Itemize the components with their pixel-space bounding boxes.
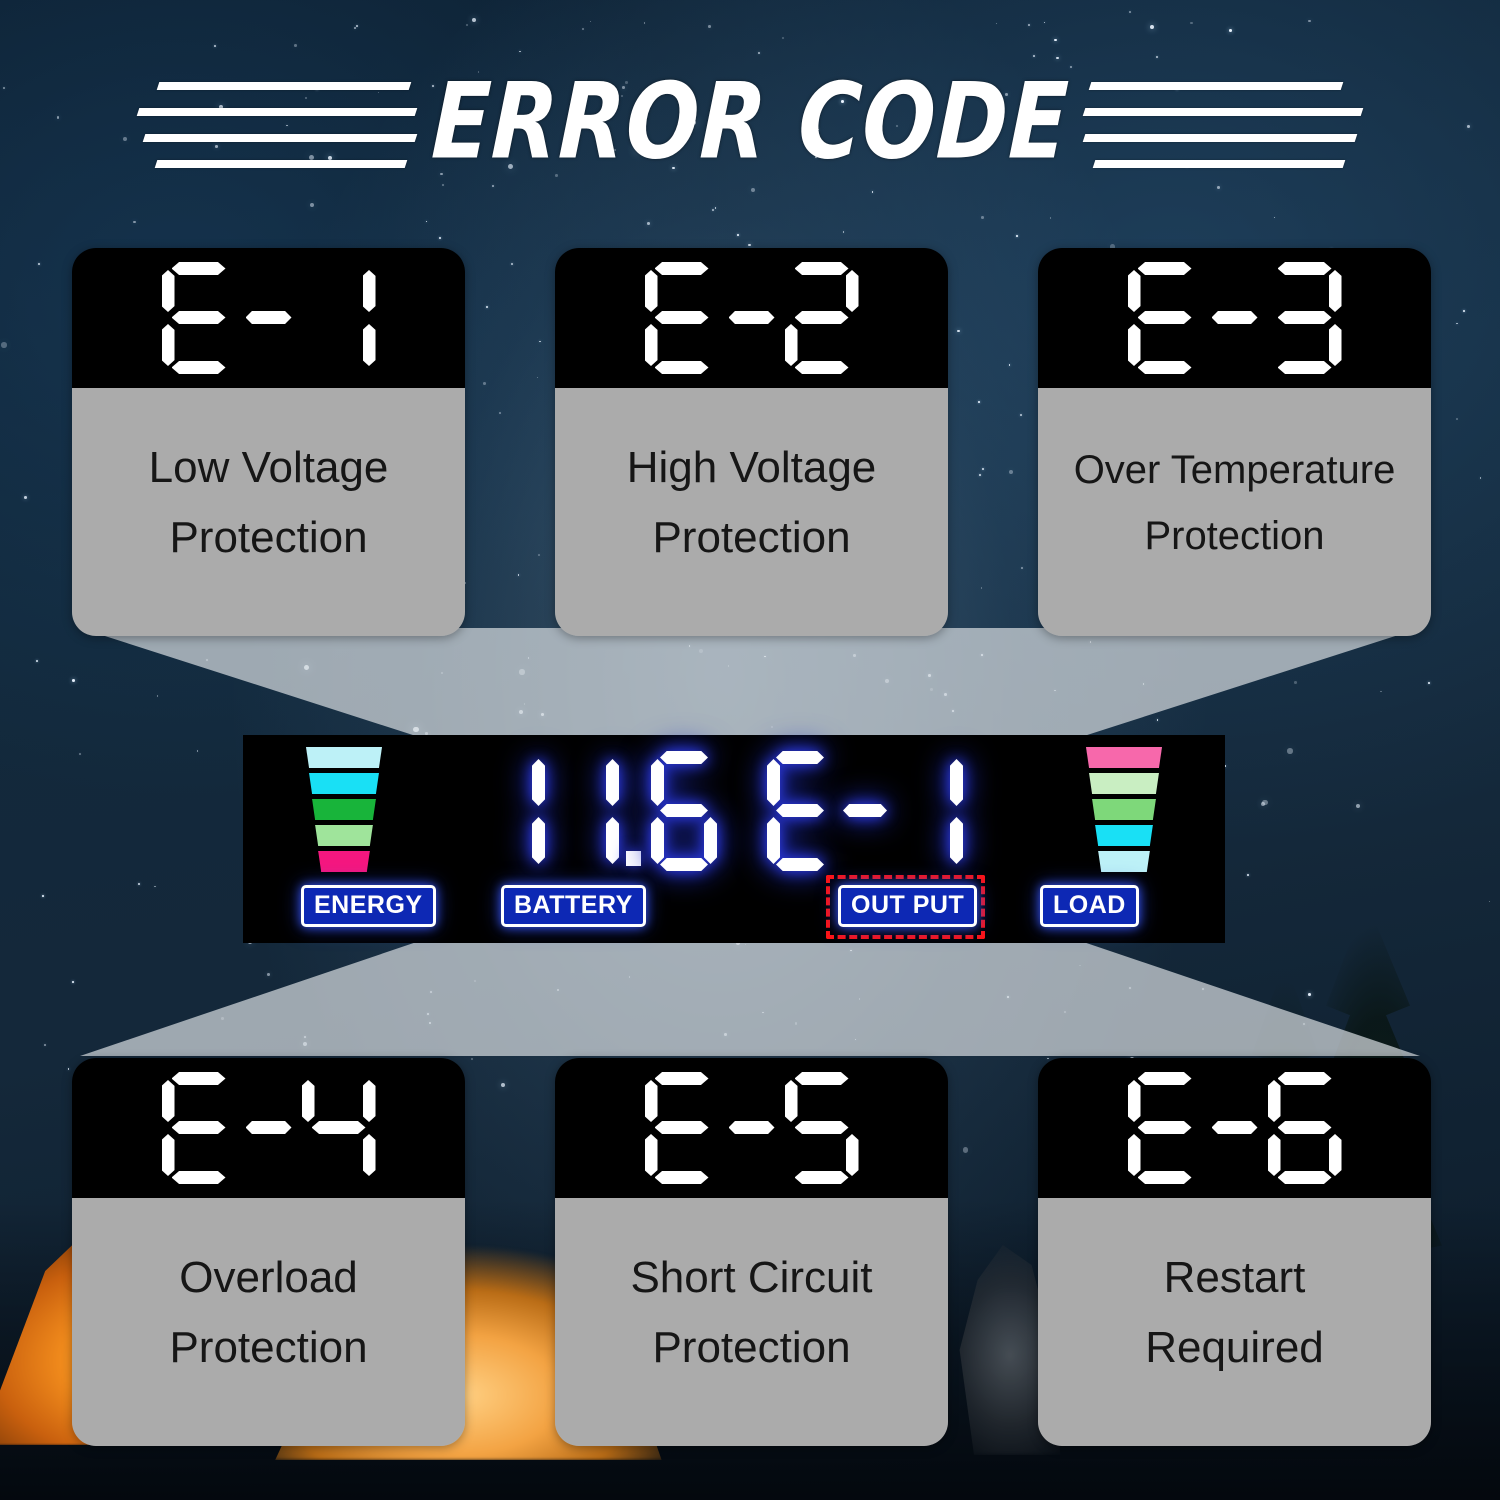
error-description-line1: Short Circuit xyxy=(630,1255,872,1301)
error-description-line2: Required xyxy=(1145,1325,1324,1371)
error-code-display-e-5 xyxy=(555,1058,948,1198)
segment-glyph-hyphen xyxy=(842,751,888,871)
label-output: OUT PUT xyxy=(838,885,977,927)
energy-bar-segment-3 xyxy=(306,799,382,820)
segment-glyph-hyphen xyxy=(1211,1072,1259,1184)
lcd-display-panel: ENERGY BATTERY OUT PUT LOAD xyxy=(243,735,1225,943)
segment-glyph-E xyxy=(1128,1072,1202,1184)
error-code-card-e-6[interactable]: RestartRequired xyxy=(1038,1058,1431,1446)
segment-glyph-1 xyxy=(897,751,963,871)
load-bar-segment-3 xyxy=(1086,799,1162,820)
segment-glyph-hyphen xyxy=(245,262,293,374)
error-description-line1: High Voltage xyxy=(627,445,877,491)
error-code-description: High VoltageProtection xyxy=(555,388,948,636)
segment-glyph-2 xyxy=(785,262,859,374)
error-code-description: OverloadProtection xyxy=(72,1198,465,1446)
segment-glyph-hyphen xyxy=(245,1072,293,1184)
error-code-description: RestartRequired xyxy=(1038,1198,1431,1446)
segment-glyph-E xyxy=(162,1072,236,1184)
error-code-display-e-3 xyxy=(1038,248,1431,388)
segment-glyph-6 xyxy=(1268,1072,1342,1184)
page-title: ERROR CODE xyxy=(413,61,1087,183)
label-battery: BATTERY xyxy=(501,885,646,927)
error-description-line1: Low Voltage xyxy=(149,445,389,491)
segment-glyph-hyphen xyxy=(1211,262,1259,374)
segment-glyph-hyphen xyxy=(728,262,776,374)
error-code-display-e-4 xyxy=(72,1058,465,1198)
error-description-line1: Over Temperature xyxy=(1074,449,1396,491)
error-description-line1: Restart xyxy=(1164,1255,1306,1301)
error-code-card-e-5[interactable]: Short CircuitProtection xyxy=(555,1058,948,1446)
error-code-display-e-1 xyxy=(72,248,465,388)
error-description-line2: Protection xyxy=(169,515,367,561)
title-decoration-left xyxy=(126,72,416,172)
label-energy: ENERGY xyxy=(301,885,436,927)
segment-glyph-E xyxy=(162,262,236,374)
title-decoration-right xyxy=(1084,72,1374,172)
error-code-row-top: Low VoltageProtectionHigh VoltageProtect… xyxy=(72,248,1432,636)
energy-bar-segment-2 xyxy=(306,773,382,794)
error-description-line1: Overload xyxy=(179,1255,358,1301)
segment-glyph-E xyxy=(645,262,719,374)
output-error-readout xyxy=(763,751,967,871)
segment-glyph-hyphen xyxy=(728,1072,776,1184)
error-description-line2: Protection xyxy=(652,515,850,561)
load-bargraph xyxy=(1086,747,1162,875)
load-bar-segment-4 xyxy=(1086,825,1162,846)
error-description-line2: Protection xyxy=(169,1325,367,1371)
error-code-display-e-6 xyxy=(1038,1058,1431,1198)
segment-glyph-1 xyxy=(553,751,619,871)
error-description-line2: Protection xyxy=(1144,515,1324,557)
error-code-description: Over TemperatureProtection xyxy=(1038,388,1431,636)
energy-bargraph xyxy=(306,747,382,875)
segment-glyph-6 xyxy=(651,751,717,871)
segment-glyph-1 xyxy=(479,751,545,871)
error-code-row-bottom: OverloadProtectionShort CircuitProtectio… xyxy=(72,1058,1432,1446)
error-code-description: Short CircuitProtection xyxy=(555,1198,948,1446)
error-code-card-e-3[interactable]: Over TemperatureProtection xyxy=(1038,248,1431,636)
segment-glyph-5 xyxy=(785,1072,859,1184)
error-code-description: Low VoltageProtection xyxy=(72,388,465,636)
segment-glyph-1 xyxy=(302,262,376,374)
segment-glyph-E xyxy=(767,751,833,871)
error-description-line2: Protection xyxy=(652,1325,850,1371)
label-load: LOAD xyxy=(1040,885,1139,927)
segment-glyph-decimal-point xyxy=(624,751,646,871)
segment-glyph-4 xyxy=(302,1072,376,1184)
energy-bar-segment-4 xyxy=(306,825,382,846)
error-code-display-e-2 xyxy=(555,248,948,388)
energy-bar-segment-1 xyxy=(306,747,382,768)
page-header: ERROR CODE xyxy=(0,62,1500,182)
segment-glyph-E xyxy=(1128,262,1202,374)
segment-glyph-3 xyxy=(1268,262,1342,374)
segment-glyph-E xyxy=(645,1072,719,1184)
load-bar-segment-1 xyxy=(1086,747,1162,768)
energy-bar-segment-5 xyxy=(306,851,382,872)
error-code-card-e-2[interactable]: High VoltageProtection xyxy=(555,248,948,636)
error-code-card-e-1[interactable]: Low VoltageProtection xyxy=(72,248,465,636)
load-bar-segment-2 xyxy=(1086,773,1162,794)
battery-voltage-readout xyxy=(475,751,721,871)
load-bar-segment-5 xyxy=(1086,851,1162,872)
error-code-card-e-4[interactable]: OverloadProtection xyxy=(72,1058,465,1446)
